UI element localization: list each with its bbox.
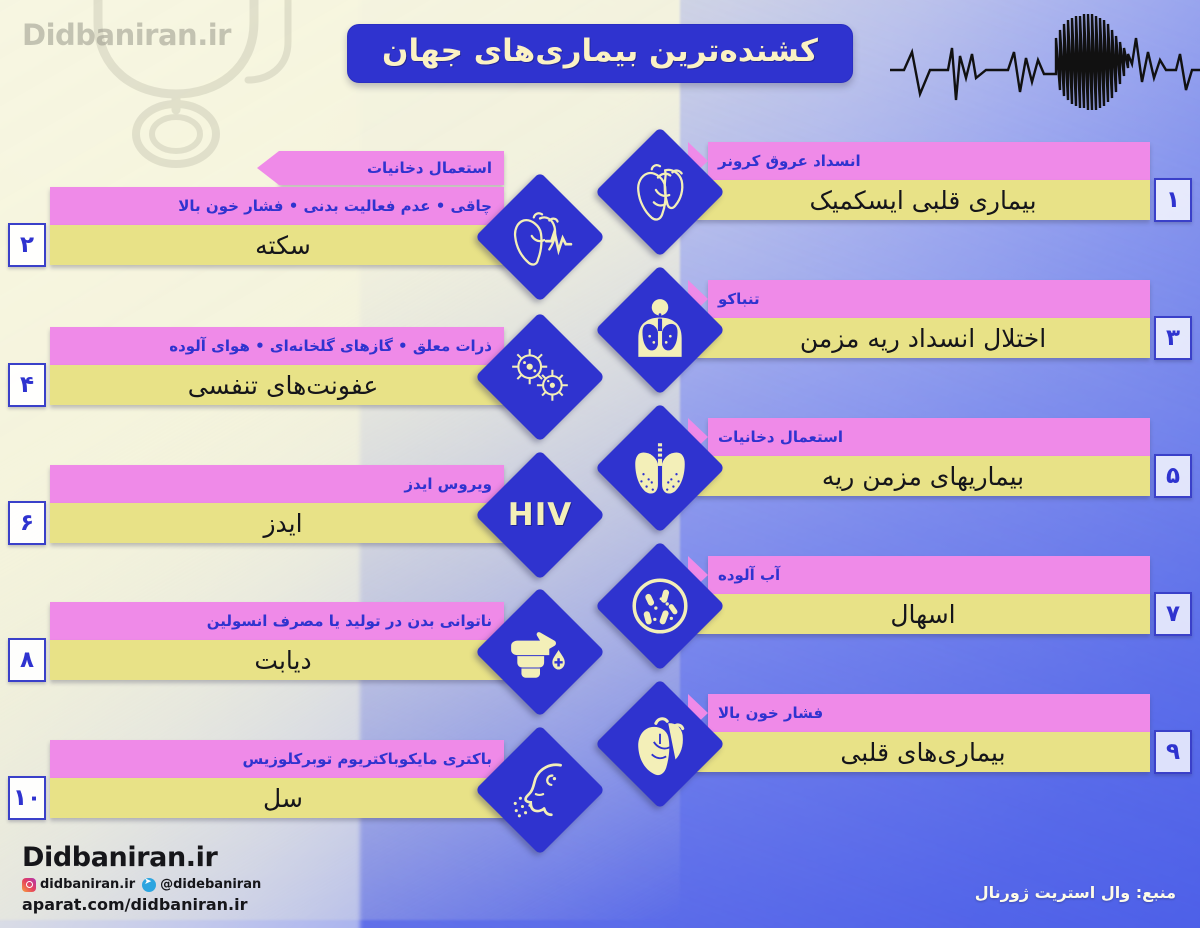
disease-bar: بیماری‌های قلبی [696,732,1150,772]
list-item[interactable]: باکتری مایکوباکتریوم توبرکلوزیس سل ۱۰ [0,718,600,836]
rank-badge: ۷ [1154,592,1192,636]
anatomical-heart-icon [595,127,725,257]
infographic-canvas: Didbaniran.ir کشنده‌ترین بیماری‌های جهان… [0,0,1200,928]
disease-label: اختلال انسداد ریه مزمن [696,324,1150,353]
rank-badge: ۱ [1154,178,1192,222]
instagram-icon [22,878,36,892]
cause-label: ذرات معلق • گازهای گلخانه‌ای • هوای آلود… [50,337,504,355]
page-title: کشنده‌ترین بیماری‌های جهان [347,24,853,83]
cause-bar: فشار خون بالا [708,694,1150,732]
list-item[interactable]: تنباکو اختلال انسداد ریه مزمن ۳ [600,258,1200,376]
social-handles: didbaniran.ir @didebaniran [22,877,261,892]
disease-label: بیماری‌های قلبی [696,738,1150,767]
cause-bar: باکتری مایکوباکتریوم توبرکلوزیس [50,740,504,778]
rank-badge: ۸ [8,638,46,682]
disease-bar: سل [50,778,516,818]
telegram-handle[interactable]: @didebaniran [160,877,261,892]
disease-label: بیماریهای مزمن ریه [696,462,1150,491]
rank-badge: ۶ [8,501,46,545]
cause-bar-secondary: استعمال دخانیات [279,151,504,185]
rank-badge: ۹ [1154,730,1192,774]
telegram-icon [142,878,156,892]
cause-bar: تنباکو [708,280,1150,318]
heart-organ-icon [595,679,725,809]
disease-label: عفونت‌های تنفسی [50,371,516,400]
cause-bar: ویروس ایدز [50,465,504,503]
cause-bar: ذرات معلق • گازهای گلخانه‌ای • هوای آلود… [50,327,504,365]
disease-label: سل [50,784,516,813]
list-item[interactable]: ویروس ایدز ایدز ۶ HIV [0,443,600,561]
cause-label: تنباکو [708,290,1136,308]
aparat-link[interactable]: aparat.com/didbaniran.ir [22,895,261,914]
lungs-icon [595,403,725,533]
rank-badge: ۵ [1154,454,1192,498]
cause-bar: چاقی • عدم فعالیت بدنی • فشار خون بالا [50,187,504,225]
disease-label: اسهال [696,600,1150,629]
list-item[interactable]: ناتوانی بدن در تولید یا مصرف انسولین دیا… [0,580,600,698]
cause-bar: ناتوانی بدن در تولید یا مصرف انسولین [50,602,504,640]
disease-bar: بیماری قلبی ایسکمیک [696,180,1150,220]
coughing-face-icon [475,725,605,855]
rank-badge: ۱۰ [8,776,46,820]
instagram-handle[interactable]: didbaniran.ir [40,877,135,892]
rank-badge: ۴ [8,363,46,407]
cause-bar: آب آلوده [708,556,1150,594]
cause-label: ناتوانی بدن در تولید یا مصرف انسولین [50,612,504,630]
bacteria-dish-icon [595,541,725,671]
cause-bar: انسداد عروق کرونر [708,142,1150,180]
heart-pulse-icon [475,172,605,302]
list-item[interactable]: فشار خون بالا بیماری‌های قلبی ۹ [600,672,1200,790]
cause-bar: استعمال دخانیات [708,418,1150,456]
cause-label-secondary: استعمال دخانیات [279,159,504,177]
disease-label: ایدز [50,509,516,538]
heartbeat-ecg-icon [890,8,1200,112]
disease-bar: ایدز [50,503,516,543]
hiv-text-icon: HIV [475,450,605,580]
watermark-text: Didbaniran.ir [22,18,231,52]
cause-label: ویروس ایدز [50,475,504,493]
finger-blood-drop-icon [475,587,605,717]
list-item[interactable]: آب آلوده اسهال ۷ [600,534,1200,652]
rank-badge: ۳ [1154,316,1192,360]
disease-bar: اختلال انسداد ریه مزمن [696,318,1150,358]
disease-label: دیابت [50,646,516,675]
disease-label: سکته [50,231,516,260]
page-title-text: کشنده‌ترین بیماری‌های جهان [382,32,818,71]
disease-label: بیماری قلبی ایسکمیک [696,186,1150,215]
brand-name: Didbaniran.ir [22,844,261,872]
disease-bar: بیماریهای مزمن ریه [696,456,1150,496]
hiv-icon-label: HIV [508,497,572,533]
footer-branding: Didbaniran.ir didbaniran.ir @didebaniran… [22,844,261,914]
cause-label: استعمال دخانیات [708,428,1136,446]
rank-badge: ۲ [8,223,46,267]
source-credit: منبع: وال استریت ژورنال [975,883,1176,902]
cause-label: آب آلوده [708,566,1136,584]
list-item[interactable]: استعمال دخانیات چاقی • عدم فعالیت بدنی •… [0,165,600,283]
disease-bar: عفونت‌های تنفسی [50,365,516,405]
cause-label: فشار خون بالا [708,704,1136,722]
list-item[interactable]: انسداد عروق کرونر بیماری قلبی ایسکمیک ۱ [600,120,1200,238]
disease-bar: اسهال [696,594,1150,634]
cause-label: باکتری مایکوباکتریوم توبرکلوزیس [50,750,504,768]
list-item[interactable]: استعمال دخانیات بیماریهای مزمن ریه ۵ [600,396,1200,514]
torso-lungs-icon [595,265,725,395]
disease-bar: دیابت [50,640,516,680]
disease-bar: سکته [50,225,516,265]
cause-label: چاقی • عدم فعالیت بدنی • فشار خون بالا [50,197,504,215]
list-item[interactable]: ذرات معلق • گازهای گلخانه‌ای • هوای آلود… [0,305,600,423]
cause-label: انسداد عروق کرونر [708,152,1136,170]
virus-cell-icon [475,312,605,442]
